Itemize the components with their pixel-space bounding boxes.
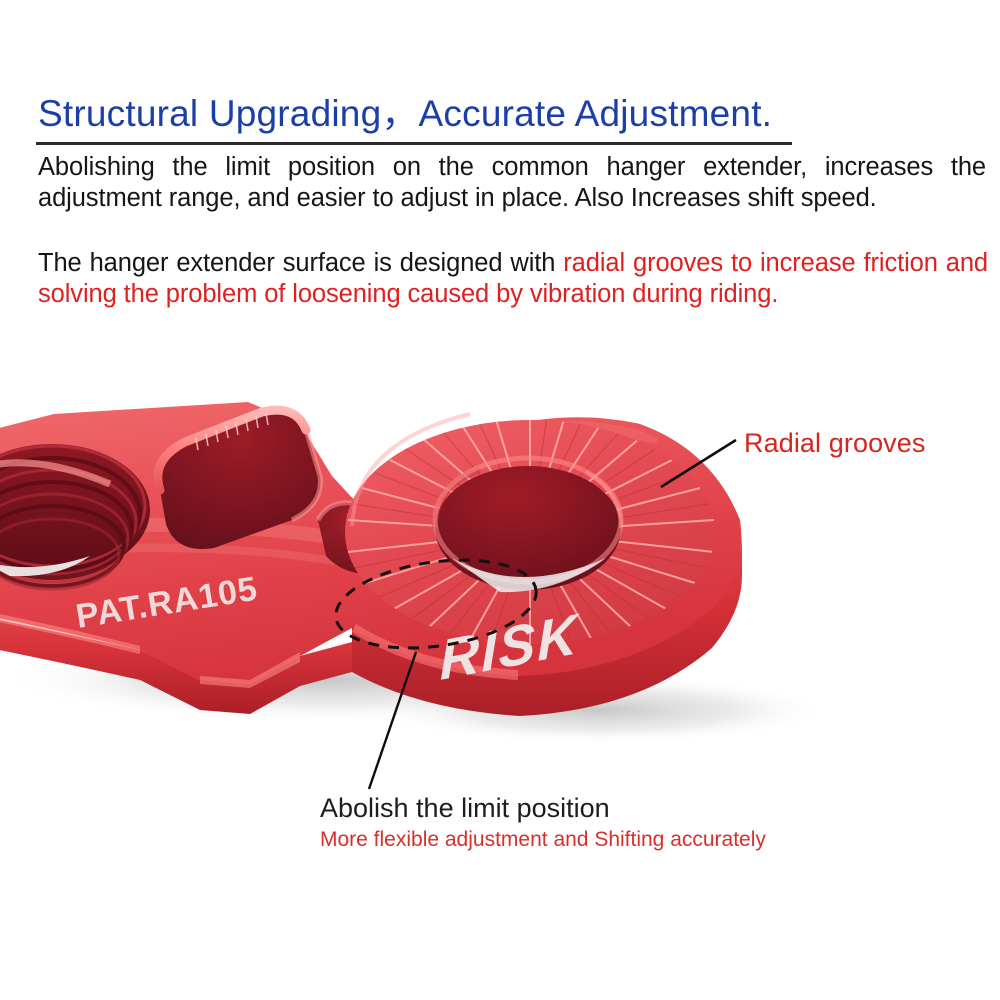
feature-paragraph: The hanger extender surface is designed …	[38, 248, 988, 310]
feature-paragraph-plain: The hanger extender surface is designed …	[38, 249, 563, 277]
center-bore	[435, 458, 621, 592]
callout-label-radial-grooves: Radial grooves	[744, 428, 926, 459]
callout-label-abolish-limit: Abolish the limit position	[320, 793, 610, 824]
callout-sublabel-abolish-limit: More flexible adjustment and Shifting ac…	[320, 828, 766, 852]
infographic-page: Structural Upgrading，Accurate Adjustment…	[0, 0, 1000, 1000]
title-underline-rule	[36, 142, 792, 145]
intro-paragraph: Abolishing the limit position on the com…	[38, 152, 986, 214]
page-title: Structural Upgrading，Accurate Adjustment…	[38, 92, 968, 136]
